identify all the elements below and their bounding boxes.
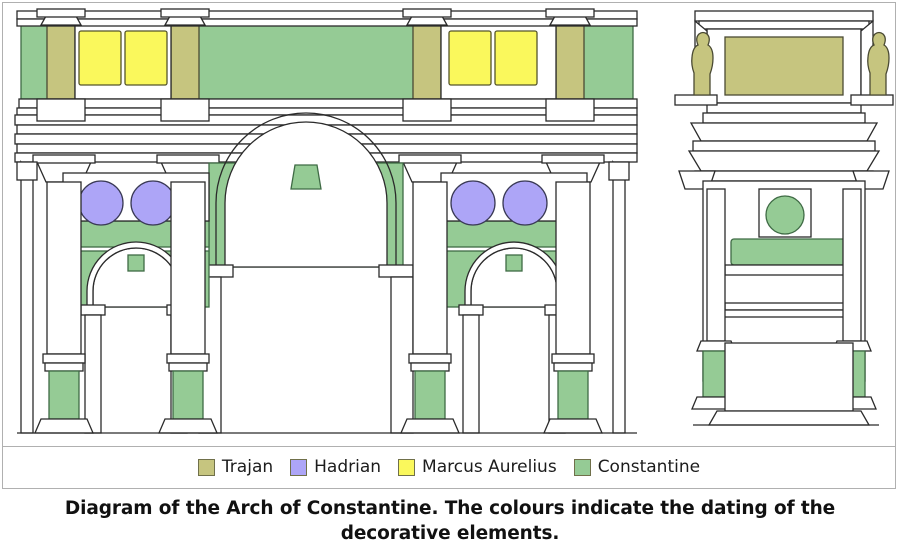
legend-item-constantine: Constantine bbox=[574, 459, 700, 476]
side-column-left-shaft bbox=[707, 189, 725, 341]
roundel-left-1 bbox=[79, 181, 123, 225]
side-frieze-band bbox=[731, 239, 847, 265]
column-base-4 bbox=[558, 371, 588, 419]
side-string-course-1 bbox=[725, 303, 853, 310]
column-base-1 bbox=[49, 371, 79, 419]
legend-item-hadrian: Hadrian bbox=[290, 459, 381, 476]
diagram-drawing-area: .st { fill:#ffffff; stroke:#2b2b2b; stro… bbox=[3, 3, 895, 446]
roundel-right-1 bbox=[451, 181, 495, 225]
central-impost-right bbox=[379, 265, 413, 277]
side-arch-left-keystone bbox=[128, 255, 144, 271]
attic-pilaster-right-outer bbox=[556, 25, 584, 99]
attic-panel-marcus-4 bbox=[495, 31, 537, 85]
attic-panel-marcus-3 bbox=[449, 31, 491, 85]
side-cornice-top bbox=[695, 11, 873, 21]
side-arch-right-impost-l bbox=[459, 305, 483, 315]
side-attic-moulding-1 bbox=[707, 103, 861, 113]
legend-swatch-marcus-aurelius bbox=[398, 459, 415, 476]
attic-panel-marcus-1 bbox=[79, 31, 121, 85]
side-lower-wall bbox=[725, 343, 853, 411]
figure-frame: .st { fill:#ffffff; stroke:#2b2b2b; stro… bbox=[2, 2, 896, 489]
attic-panel-marcus-2 bbox=[125, 31, 167, 85]
legend-swatch-constantine bbox=[574, 459, 591, 476]
side-plinth bbox=[709, 411, 869, 425]
side-cornice-top-2 bbox=[699, 21, 869, 29]
attic-pilaster-right-inner bbox=[413, 25, 441, 99]
attic-cornice-top-2 bbox=[17, 19, 637, 26]
legend: Trajan Hadrian Marcus Aurelius Constanti… bbox=[3, 446, 895, 488]
side-statue-ledge-left bbox=[675, 95, 717, 105]
side-cornice-lower bbox=[689, 151, 879, 171]
side-string-course-2 bbox=[723, 310, 855, 317]
legend-label-marcus-aurelius: Marcus Aurelius bbox=[422, 459, 557, 476]
side-architrave bbox=[695, 171, 873, 181]
figure-caption: Diagram of the Arch of Constantine. The … bbox=[0, 497, 900, 546]
side-arch-right-jamb-l bbox=[463, 315, 479, 433]
arch-diagram-svg: .st { fill:#ffffff; stroke:#2b2b2b; stro… bbox=[3, 3, 895, 446]
legend-swatch-trajan bbox=[198, 459, 215, 476]
attic-base-moulding-2 bbox=[17, 108, 637, 115]
legend-item-trajan: Trajan bbox=[198, 459, 273, 476]
side-statue-ledge-right bbox=[851, 95, 893, 105]
central-arch-keystone bbox=[291, 165, 321, 189]
legend-item-marcus-aurelius: Marcus Aurelius bbox=[398, 459, 557, 476]
main-cornice-1 bbox=[15, 115, 637, 125]
side-entablature bbox=[691, 123, 877, 141]
legend-label-hadrian: Hadrian bbox=[314, 459, 381, 476]
roundel-right-2 bbox=[503, 181, 547, 225]
attic-pilaster-left-outer bbox=[47, 25, 75, 99]
side-column-right-shaft bbox=[843, 189, 861, 341]
side-arch-right-keystone bbox=[506, 255, 522, 271]
column-base-3 bbox=[415, 371, 445, 419]
legend-label-trajan: Trajan bbox=[222, 459, 273, 476]
side-arch-left-impost-l bbox=[81, 305, 105, 315]
column-base-2 bbox=[173, 371, 203, 419]
roundel-left-2 bbox=[131, 181, 175, 225]
legend-swatch-hadrian bbox=[290, 459, 307, 476]
side-arch-left-jamb-l bbox=[85, 315, 101, 433]
legend-label-constantine: Constantine bbox=[598, 459, 700, 476]
attic-side-panel bbox=[725, 37, 843, 95]
attic-cornice-top bbox=[17, 11, 637, 19]
attic-base-moulding-1 bbox=[19, 99, 637, 108]
figure-root: .st { fill:#ffffff; stroke:#2b2b2b; stro… bbox=[0, 0, 900, 560]
side-attic-moulding-2 bbox=[703, 113, 865, 123]
side-roundel bbox=[766, 196, 804, 234]
side-elevation-view bbox=[675, 11, 893, 425]
caption-line-2: decorative elements. bbox=[341, 523, 560, 544]
side-frieze-moulding bbox=[725, 265, 853, 275]
attic-pilaster-left-inner bbox=[171, 25, 199, 99]
caption-line-1: Diagram of the Arch of Constantine. The … bbox=[65, 498, 835, 519]
side-entablature-2 bbox=[693, 141, 875, 151]
front-elevation-view bbox=[15, 9, 637, 433]
